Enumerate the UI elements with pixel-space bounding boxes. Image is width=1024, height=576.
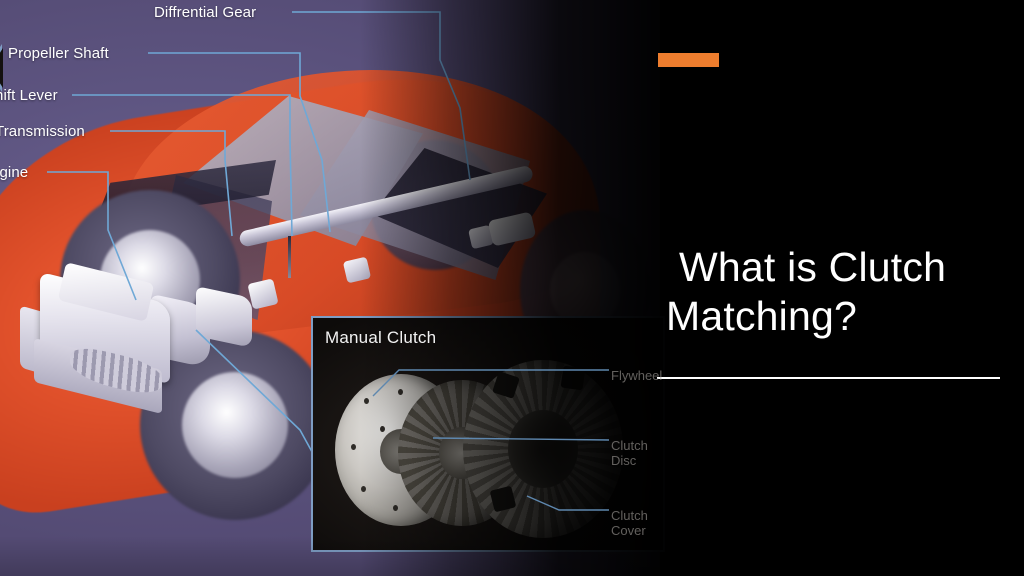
accent-bar: [658, 53, 719, 67]
inset-label-clutch-disc-line2: Disc: [611, 453, 636, 468]
page-title: What is Clutch Matching?: [666, 243, 1018, 341]
inset-label-clutch-disc: ClutchDisc: [611, 438, 648, 468]
slide-canvas: Diffrential Gear Propeller Shaft hift Le…: [0, 0, 1024, 576]
inset-title: Manual Clutch: [325, 328, 436, 348]
inset-label-clutch-cover-line1: Clutch: [611, 508, 648, 523]
label-engine: ngine: [0, 165, 28, 180]
inset-label-clutch-cover: ClutchCover: [611, 508, 648, 538]
inset-label-flywheel: Flywheel: [611, 368, 662, 383]
label-shift-lever: hift Lever: [0, 88, 58, 103]
inset-title-rest: Clutch: [382, 328, 436, 347]
title-underline: [657, 377, 1000, 379]
inset-label-clutch-cover-line2: Cover: [611, 523, 646, 538]
page-title-line1: What is Clutch: [666, 243, 1018, 292]
label-propeller-shaft: Propeller Shaft: [8, 46, 109, 61]
inset-label-clutch-disc-line1: Clutch: [611, 438, 648, 453]
label-differential-gear: Diffrential Gear: [154, 5, 256, 20]
label-transmission: Transmission: [0, 124, 85, 139]
inset-title-bold: Manual: [325, 328, 382, 347]
manual-clutch-inset-panel: Manual Clutch: [311, 316, 665, 552]
inset-pointer-fill: [0, 48, 3, 88]
page-title-line2: Matching?: [666, 292, 1018, 341]
title-panel: What is Clutch Matching?: [620, 0, 1024, 576]
